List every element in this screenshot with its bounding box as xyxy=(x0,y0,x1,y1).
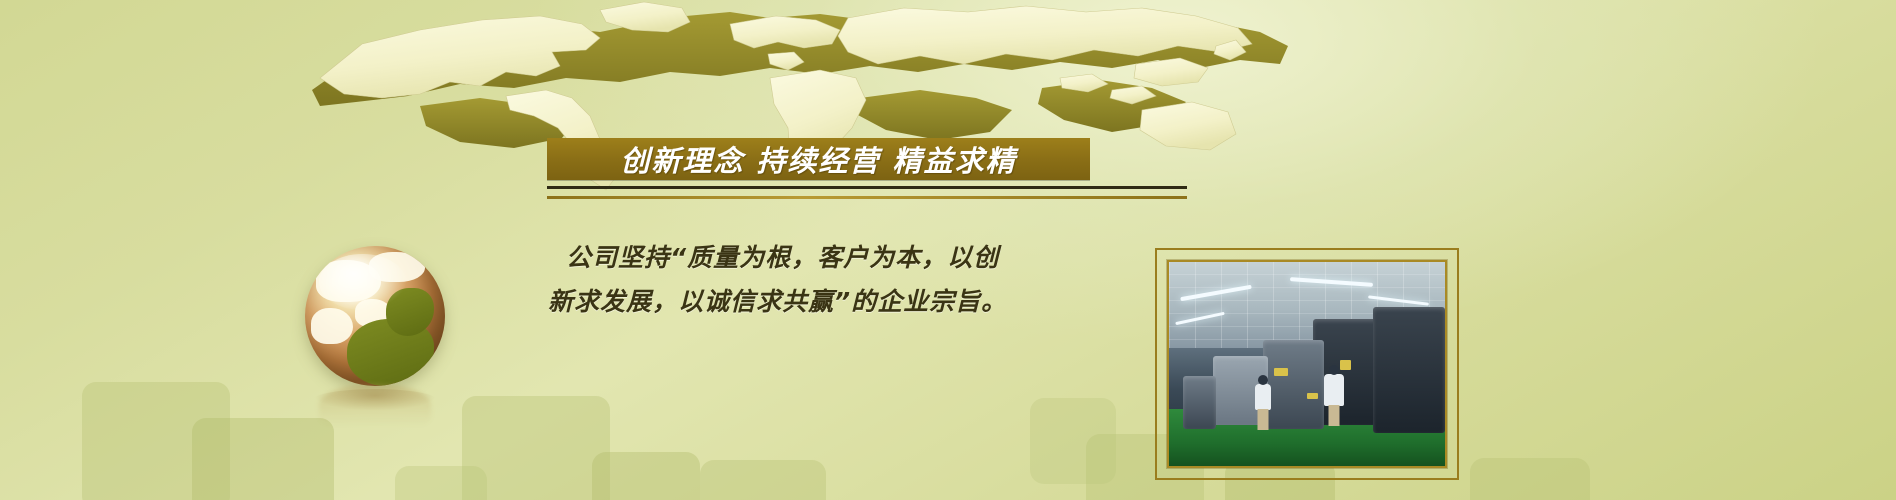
divider-rule-dark xyxy=(547,186,1187,189)
rounded-squares-pattern xyxy=(0,300,1896,500)
photo-worker-1 xyxy=(1255,384,1271,410)
globe-sphere xyxy=(305,246,445,386)
company-promo-banner: 创新理念 持续经营 精益求精 公司坚持“质量为根，客户为本，以创 新求发展，以诚… xyxy=(0,0,1896,500)
photo-inner-border xyxy=(1167,260,1447,468)
subtitle-line-2: 新求发展，以诚信求共赢”的企业宗旨。 xyxy=(548,280,1158,324)
photo-worker-2 xyxy=(1324,374,1344,406)
divider-rule-gold xyxy=(547,196,1187,199)
workshop-photo xyxy=(1169,262,1445,466)
photo-frame xyxy=(1155,248,1459,480)
golden-globe-graphic xyxy=(305,246,455,441)
globe-reflection xyxy=(319,384,431,436)
subtitle-text: 公司坚持“质量为根，客户为本，以创 新求发展，以诚信求共赢”的企业宗旨。 xyxy=(548,236,1158,324)
headline-band: 创新理念 持续经营 精益求精 xyxy=(547,138,1090,180)
subtitle-line-1: 公司坚持“质量为根，客户为本，以创 xyxy=(548,236,1158,280)
headline-text: 创新理念 持续经营 精益求精 xyxy=(620,138,1016,180)
